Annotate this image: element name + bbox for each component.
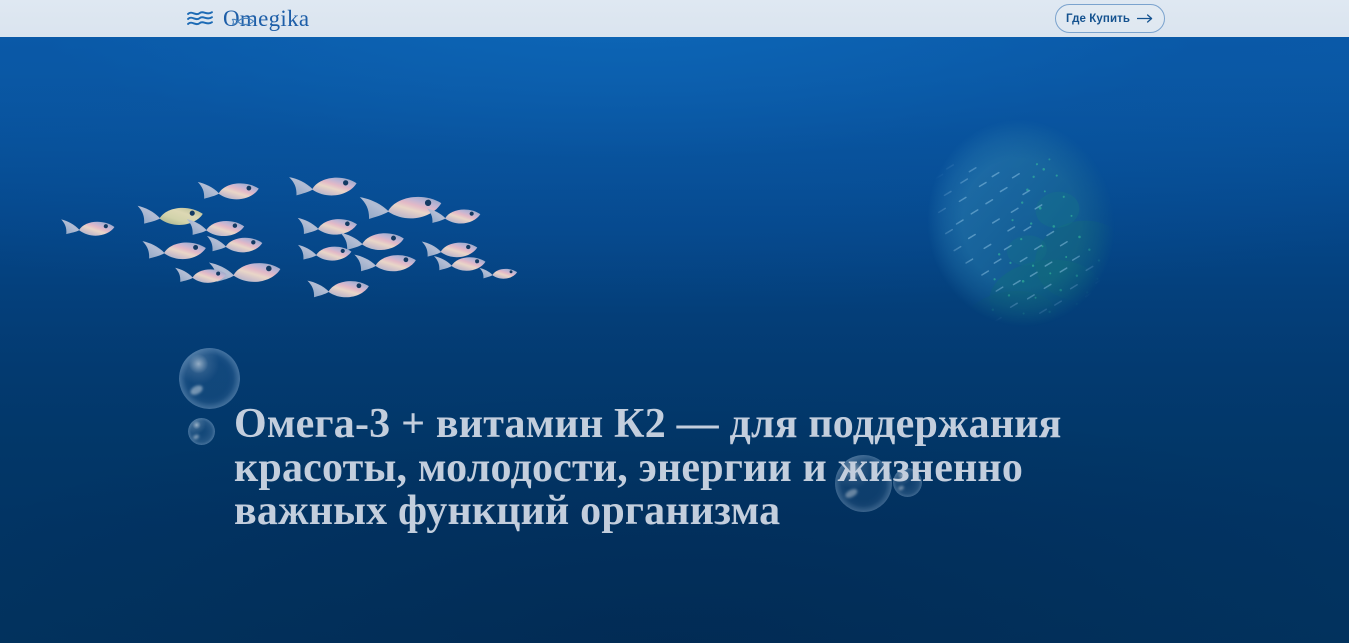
fish [285, 167, 366, 209]
fish [295, 239, 359, 270]
fish [304, 271, 379, 309]
where-to-buy-label: Где Купить [1066, 13, 1130, 25]
hero-section: Омега-3 + витамин К2 — для поддержания к… [0, 37, 1349, 643]
arrow-right-icon [1137, 14, 1154, 23]
hero-headline: Омега-3 + витамин К2 — для поддержания к… [234, 403, 1179, 534]
wave-icon [186, 8, 214, 30]
fish [431, 249, 493, 280]
fish [172, 262, 234, 292]
bubble [188, 418, 215, 445]
site-header: Omegika Где Купить [0, 0, 1349, 37]
where-to-buy-button[interactable]: Где Купить [1055, 4, 1165, 33]
landing-page: Omegika Где Купить [0, 0, 1349, 643]
brand-logo-link[interactable]: Omegika [186, 0, 318, 37]
fish [58, 214, 121, 244]
fish [195, 174, 267, 211]
brand-name: Omegika [223, 7, 309, 30]
fish [424, 201, 488, 233]
fish-school-decoration [0, 37, 1349, 643]
bubble [179, 348, 240, 409]
